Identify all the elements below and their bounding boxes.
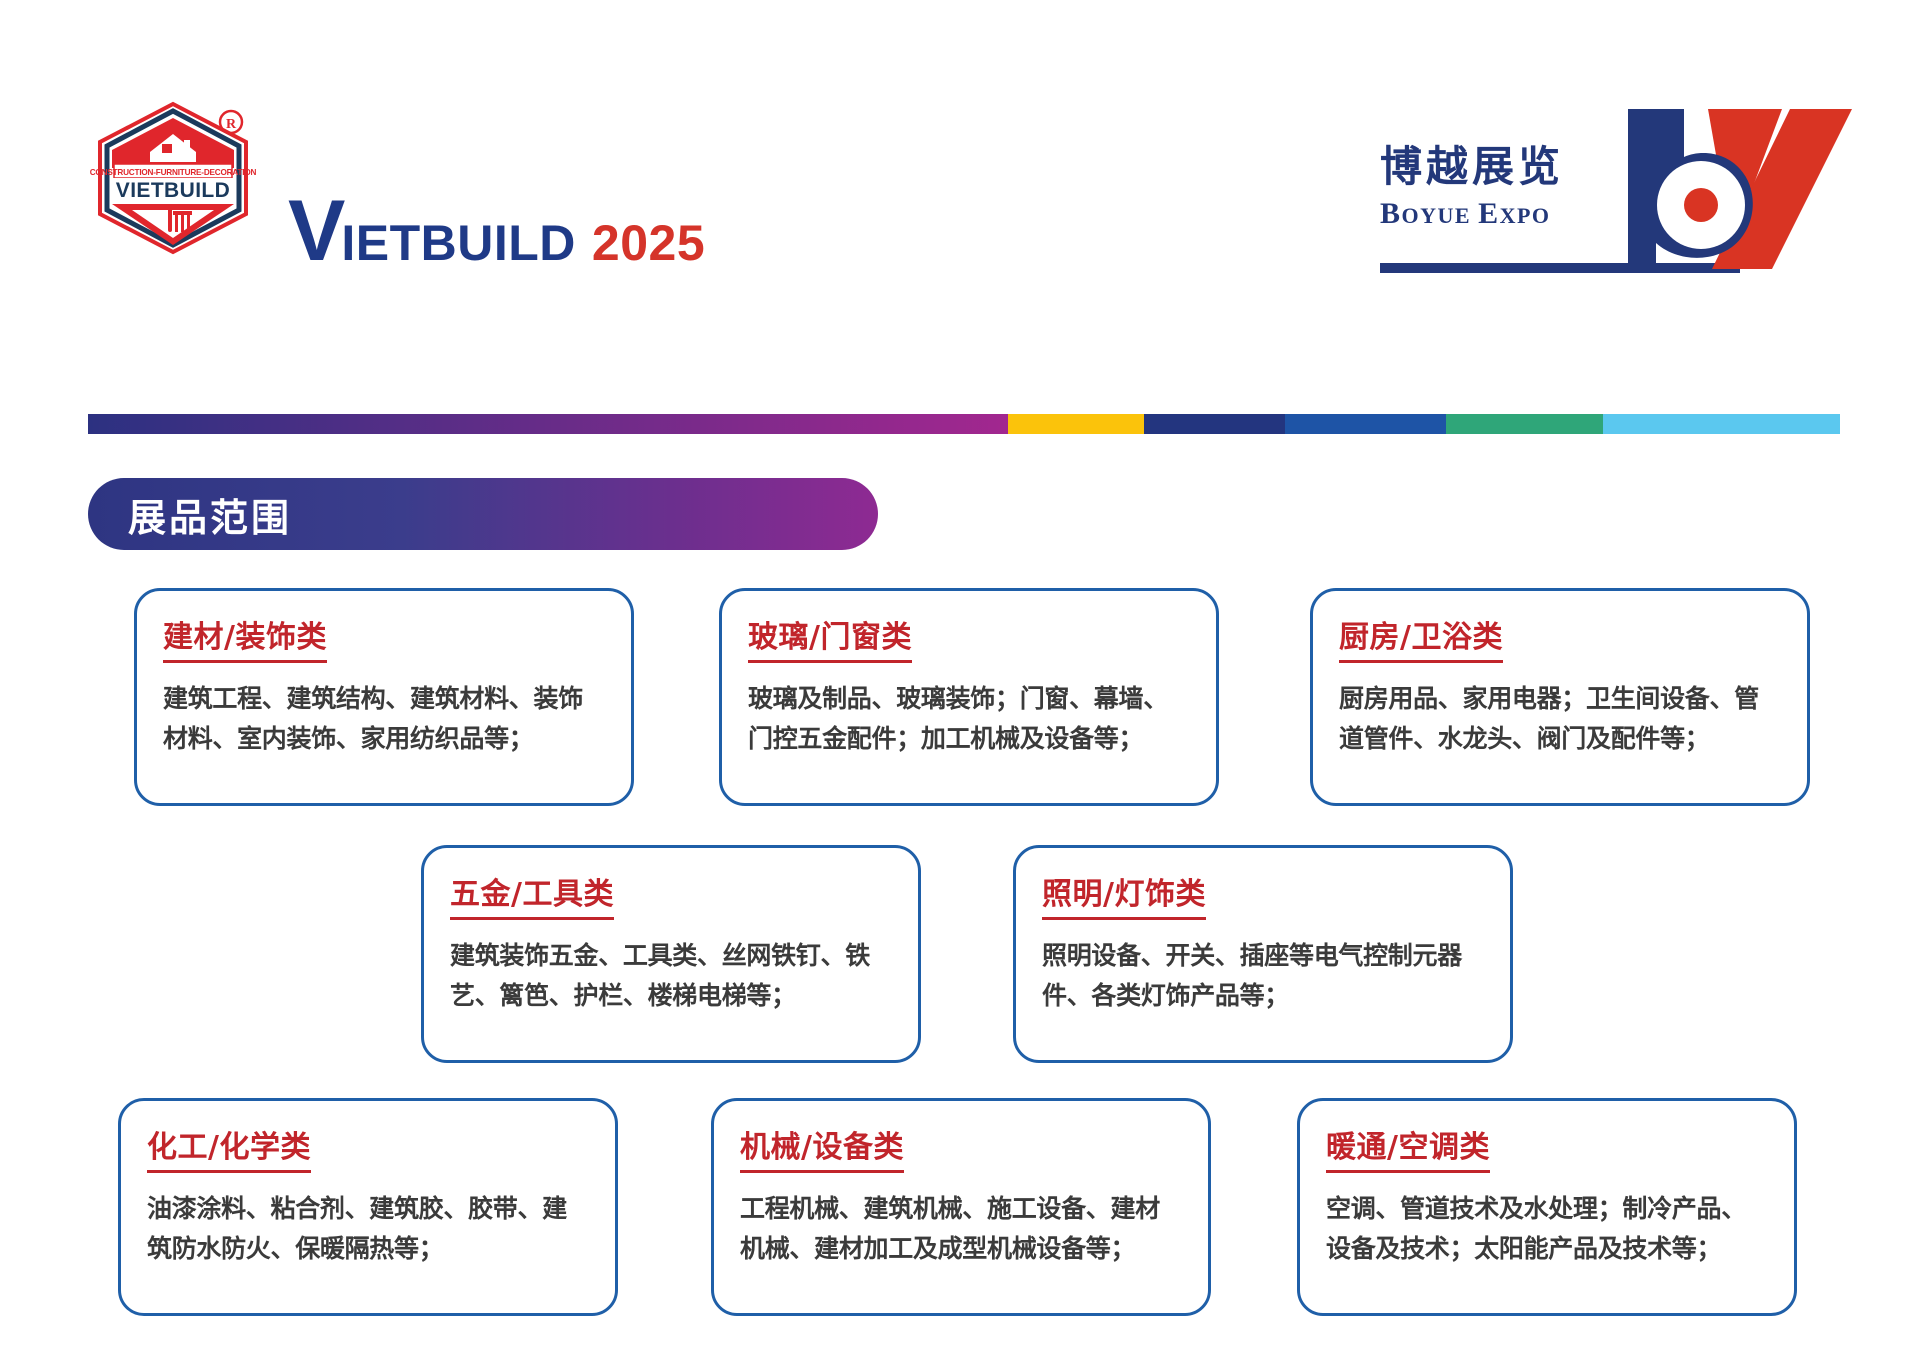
category-description: 厨房用品、家用电器；卫生间设备、管道管件、水龙头、阀门及配件等；: [1339, 679, 1781, 760]
vietbuild-logo: CONSTRUCTION-FURNITURE-DECORATION VIETBU…: [88, 98, 258, 258]
vietbuild-tagline: CONSTRUCTION-FURNITURE-DECORATION: [90, 168, 257, 177]
boyue-by-mark-icon: [1576, 105, 1856, 273]
category-card-machinery-equipment[interactable]: 机械/设备类 工程机械、建筑机械、施工设备、建材机械、建材加工及成型机械设备等；: [711, 1098, 1211, 1316]
category-description: 玻璃及制品、玻璃装饰；门窗、幕墙、门控五金配件；加工机械及设备等；: [748, 679, 1190, 760]
category-description: 油漆涂料、粘合剂、建筑胶、胶带、建筑防水防火、保暖隔热等；: [147, 1189, 589, 1270]
boyue-en-xpo: XPO: [1500, 203, 1551, 228]
category-card-hvac[interactable]: 暖通/空调类 空调、管道技术及水处理；制冷产品、设备及技术；太阳能产品及技术等；: [1297, 1098, 1797, 1316]
boyue-en-b: B: [1380, 197, 1402, 230]
title-year: 2025: [592, 214, 705, 272]
category-title: 化工/化学类: [147, 1131, 311, 1173]
section-title-label: 展品范围: [128, 487, 292, 542]
category-description: 工程机械、建筑机械、施工设备、建材机械、建材加工及成型机械设备等；: [740, 1189, 1182, 1270]
accent-color-bar: [88, 414, 1840, 434]
category-card-hardware-tools[interactable]: 五金/工具类 建筑装饰五金、工具类、丝网铁钉、铁艺、篱笆、护栏、楼梯电梯等；: [421, 845, 921, 1063]
colorbar-segment-blue: [1285, 414, 1446, 434]
boyue-expo-logo: 博越展览 BOYUE EXPO: [1380, 105, 1850, 280]
colorbar-segment-navy: [1144, 414, 1284, 434]
category-title: 玻璃/门窗类: [748, 621, 912, 663]
title-rest: IETBUILD: [341, 214, 576, 272]
category-description: 建筑装饰五金、工具类、丝网铁钉、铁艺、篱笆、护栏、楼梯电梯等；: [450, 936, 892, 1017]
registered-mark-icon: R: [226, 117, 237, 132]
category-card-glass-doors-windows[interactable]: 玻璃/门窗类 玻璃及制品、玻璃装饰；门窗、幕墙、门控五金配件；加工机械及设备等；: [719, 588, 1219, 806]
category-title: 暖通/空调类: [1326, 1131, 1490, 1173]
category-card-building-materials[interactable]: 建材/装饰类 建筑工程、建筑结构、建筑材料、装饰材料、室内装饰、家用纺织品等；: [134, 588, 634, 806]
page-title: V IETBUILD 2025: [288, 188, 705, 278]
colorbar-segment-cyan: [1603, 414, 1840, 434]
colorbar-segment-green: [1446, 414, 1604, 434]
category-description: 照明设备、开关、插座等电气控制元器件、各类灯饰产品等；: [1042, 936, 1484, 1017]
colorbar-segment-gradient-indigo-magenta: [88, 414, 1008, 434]
page-header: CONSTRUCTION-FURNITURE-DECORATION VIETBU…: [0, 0, 1920, 330]
category-card-kitchen-bathroom[interactable]: 厨房/卫浴类 厨房用品、家用电器；卫生间设备、管道管件、水龙头、阀门及配件等；: [1310, 588, 1810, 806]
category-title: 五金/工具类: [450, 878, 614, 920]
category-card-lighting[interactable]: 照明/灯饰类 照明设备、开关、插座等电气控制元器件、各类灯饰产品等；: [1013, 845, 1513, 1063]
category-title: 照明/灯饰类: [1042, 878, 1206, 920]
category-title: 厨房/卫浴类: [1339, 621, 1503, 663]
category-card-chemicals[interactable]: 化工/化学类 油漆涂料、粘合剂、建筑胶、胶带、建筑防水防火、保暖隔热等；: [118, 1098, 618, 1316]
vietbuild-wordmark: VIETBUILD: [116, 179, 230, 202]
title-initial: V: [288, 188, 343, 274]
category-title: 建材/装饰类: [163, 621, 327, 663]
category-title: 机械/设备类: [740, 1131, 904, 1173]
boyue-en-oyue: OYUE: [1402, 203, 1479, 228]
category-description: 建筑工程、建筑结构、建筑材料、装饰材料、室内装饰、家用纺织品等；: [163, 679, 605, 760]
category-description: 空调、管道技术及水处理；制冷产品、设备及技术；太阳能产品及技术等；: [1326, 1189, 1768, 1270]
boyue-en-e: E: [1478, 197, 1500, 230]
colorbar-segment-yellow: [1008, 414, 1145, 434]
section-title-pill: 展品范围: [88, 478, 878, 550]
